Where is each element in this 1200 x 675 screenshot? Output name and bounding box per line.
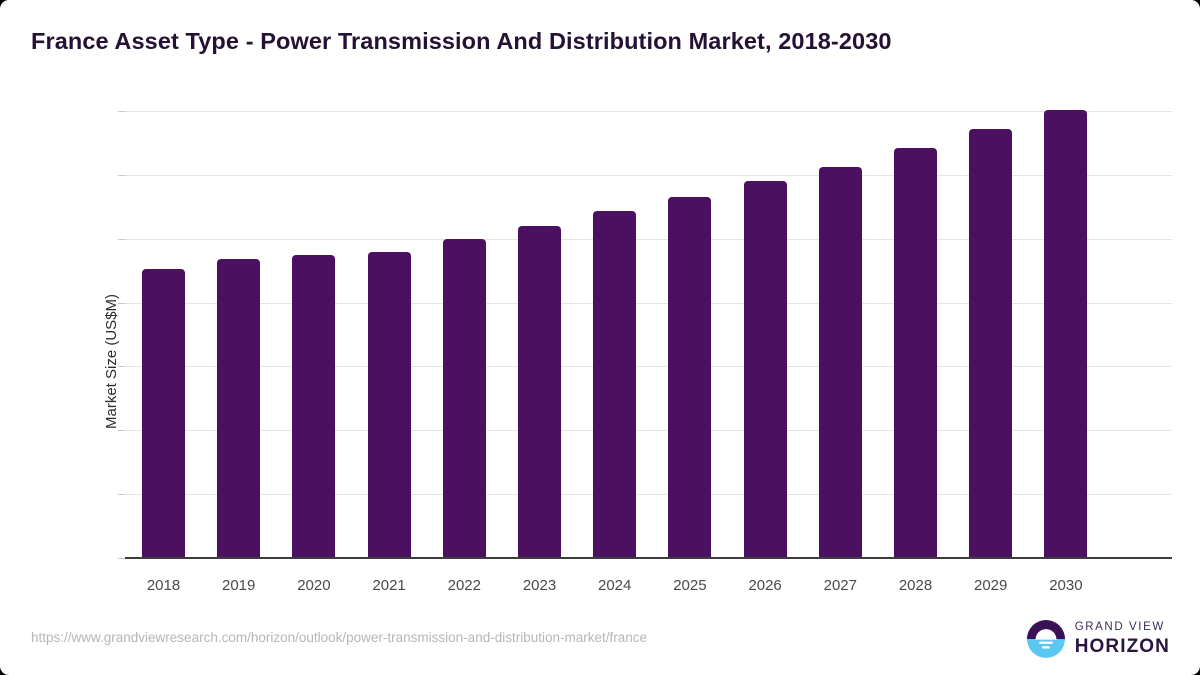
gridline [125, 239, 1172, 240]
bar[interactable] [292, 255, 335, 558]
y-axis-tick-mark [118, 494, 125, 495]
x-axis-line [125, 557, 1172, 559]
gridline [125, 494, 1172, 495]
y-axis-tick-mark [118, 239, 125, 240]
bar[interactable] [668, 197, 711, 558]
logo-line-grand-view: GRAND VIEW [1075, 622, 1170, 634]
bar[interactable] [744, 181, 787, 558]
plot-area: Market Size (US$M) 02.5k5k7.5k10k12.5k15… [125, 111, 1172, 558]
bar[interactable] [142, 269, 185, 558]
gridline [125, 430, 1172, 431]
logo-text: GRAND VIEW HORIZON [1075, 622, 1170, 657]
source-url[interactable]: https://www.grandviewresearch.com/horizo… [31, 630, 647, 645]
y-axis-tick-mark [118, 558, 125, 559]
x-axis-tick-label: 2030 [1021, 577, 1111, 594]
bar[interactable] [368, 252, 411, 559]
bar[interactable] [969, 129, 1012, 558]
y-axis-tick-mark [118, 175, 125, 176]
y-axis-tick-mark [118, 303, 125, 304]
gridline [125, 175, 1172, 176]
bar[interactable] [593, 211, 636, 558]
logo-line-horizon: HORIZON [1075, 637, 1170, 656]
gridline [125, 303, 1172, 304]
y-axis-tick-mark [118, 366, 125, 367]
gridline [125, 366, 1172, 367]
brand-logo[interactable]: GRAND VIEW HORIZON [1026, 619, 1170, 659]
bar[interactable] [1044, 110, 1087, 558]
y-axis-tick-mark [118, 430, 125, 431]
bar[interactable] [217, 259, 260, 558]
page-title: France Asset Type - Power Transmission A… [31, 28, 892, 55]
chart-canvas: France Asset Type - Power Transmission A… [0, 0, 1200, 675]
sunset-circle-icon [1026, 619, 1066, 659]
gridline [125, 111, 1172, 112]
bar[interactable] [819, 167, 862, 558]
bar[interactable] [894, 148, 937, 558]
bar[interactable] [443, 239, 486, 558]
y-axis-title: Market Size (US$M) [103, 294, 120, 429]
bar[interactable] [518, 226, 561, 558]
y-axis-tick-mark [118, 111, 125, 112]
